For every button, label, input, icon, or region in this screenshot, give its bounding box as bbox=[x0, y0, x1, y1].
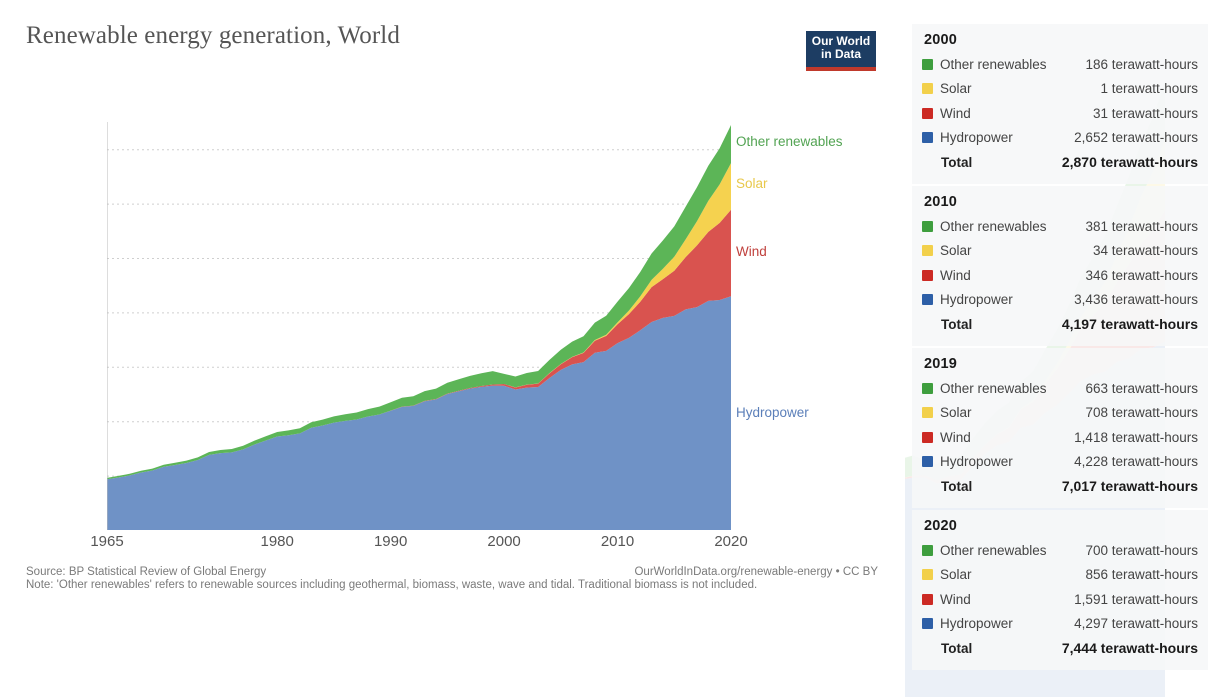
tooltip-row: Wind31 terawatt-hours bbox=[922, 101, 1198, 126]
tooltip-row: Other renewables186 terawatt-hours bbox=[922, 52, 1198, 77]
tooltip-series-name: Solar bbox=[940, 567, 972, 582]
tooltip-series-value: 1 terawatt-hours bbox=[1100, 81, 1198, 96]
tooltip-series-name: Wind bbox=[940, 106, 971, 121]
tooltip-row: Hydropower3,436 terawatt-hours bbox=[922, 288, 1198, 313]
tooltip-row: Other renewables381 terawatt-hours bbox=[922, 214, 1198, 239]
tooltip-total-label: Total bbox=[922, 641, 972, 656]
tooltip-total-row: Total7,017 terawatt-hours bbox=[922, 474, 1198, 499]
tooltip-row: Other renewables663 terawatt-hours bbox=[922, 376, 1198, 401]
owid-chart-page: Renewable energy generation, World Our W… bbox=[0, 0, 1224, 697]
tooltip-total-label: Total bbox=[922, 479, 972, 494]
tooltip-total-row: Total2,870 terawatt-hours bbox=[922, 150, 1198, 175]
tooltip-year: 2010 bbox=[924, 194, 1198, 210]
tooltip-row: Other renewables700 terawatt-hours bbox=[922, 538, 1198, 563]
x-axis-tick: 1965 bbox=[90, 533, 123, 550]
tooltip-series-value: 1,591 terawatt-hours bbox=[1074, 592, 1198, 607]
tooltip-series-name: Other renewables bbox=[940, 219, 1047, 234]
tooltip-series-value: 346 terawatt-hours bbox=[1085, 268, 1198, 283]
tooltip-series-name: Other renewables bbox=[940, 381, 1047, 396]
tooltip-series-name: Wind bbox=[940, 268, 971, 283]
tooltip-series-value: 708 terawatt-hours bbox=[1085, 405, 1198, 420]
legend-swatch-icon bbox=[922, 456, 933, 467]
tooltip-total-row: Total7,444 terawatt-hours bbox=[922, 636, 1198, 661]
legend-swatch-icon bbox=[922, 294, 933, 305]
tooltip-row: Solar1 terawatt-hours bbox=[922, 77, 1198, 102]
tooltip-row: Hydropower4,297 terawatt-hours bbox=[922, 612, 1198, 637]
tooltip-panels: 2000Other renewables186 terawatt-hoursSo… bbox=[905, 0, 1224, 697]
tooltip-total-label: Total bbox=[922, 317, 972, 332]
legend-swatch-icon bbox=[922, 83, 933, 94]
tooltip-series-value: 381 terawatt-hours bbox=[1085, 219, 1198, 234]
legend-swatch-icon bbox=[922, 569, 933, 580]
series-label-hydropower: Hydropower bbox=[736, 405, 809, 420]
legend-swatch-icon bbox=[922, 407, 933, 418]
tooltip-series-name: Hydropower bbox=[940, 616, 1013, 631]
tooltip-row: Solar34 terawatt-hours bbox=[922, 239, 1198, 264]
legend-swatch-icon bbox=[922, 432, 933, 443]
tooltip-series-name: Solar bbox=[940, 243, 972, 258]
series-label-other-renewables: Other renewables bbox=[736, 134, 843, 149]
tooltip-series-name: Solar bbox=[940, 81, 972, 96]
tooltip-year: 2020 bbox=[924, 518, 1198, 534]
tooltip-year: 2000 bbox=[924, 32, 1198, 48]
tooltip-series-value: 663 terawatt-hours bbox=[1085, 381, 1198, 396]
tooltip-series-name: Other renewables bbox=[940, 57, 1047, 72]
chart-panel: Renewable energy generation, World Our W… bbox=[0, 0, 900, 697]
tooltip-series-value: 4,228 terawatt-hours bbox=[1074, 454, 1198, 469]
tooltip-series-name: Hydropower bbox=[940, 454, 1013, 469]
tooltip-series-value: 2,652 terawatt-hours bbox=[1074, 130, 1198, 145]
legend-swatch-icon bbox=[922, 594, 933, 605]
tooltip-panel[interactable]: 2020Other renewables700 terawatt-hoursSo… bbox=[912, 510, 1208, 670]
legend-swatch-icon bbox=[922, 618, 933, 629]
tooltip-total-value: 7,017 terawatt-hours bbox=[1062, 478, 1198, 494]
tooltip-total-value: 7,444 terawatt-hours bbox=[1062, 640, 1198, 656]
tooltip-series-value: 1,418 terawatt-hours bbox=[1074, 430, 1198, 445]
tooltip-series-name: Wind bbox=[940, 430, 971, 445]
x-axis-tick: 2010 bbox=[601, 533, 634, 550]
tooltip-series-value: 856 terawatt-hours bbox=[1085, 567, 1198, 582]
tooltip-panel[interactable]: 2000Other renewables186 terawatt-hoursSo… bbox=[912, 24, 1208, 184]
tooltip-total-row: Total4,197 terawatt-hours bbox=[922, 312, 1198, 337]
tooltip-year: 2019 bbox=[924, 356, 1198, 372]
chart-footer: Source: BP Statistical Review of Global … bbox=[26, 566, 878, 591]
tooltip-series-name: Solar bbox=[940, 405, 972, 420]
tooltip-series-value: 34 terawatt-hours bbox=[1093, 243, 1198, 258]
tooltip-series-name: Wind bbox=[940, 592, 971, 607]
legend-swatch-icon bbox=[922, 108, 933, 119]
x-axis-tick: 1990 bbox=[374, 533, 407, 550]
tooltip-row: Wind346 terawatt-hours bbox=[922, 263, 1198, 288]
tooltip-panel[interactable]: 2019Other renewables663 terawatt-hoursSo… bbox=[912, 348, 1208, 508]
x-axis-tick: 2000 bbox=[487, 533, 520, 550]
legend-swatch-icon bbox=[922, 270, 933, 281]
footer-note: Note: 'Other renewables' refers to renew… bbox=[26, 579, 878, 591]
footer-link[interactable]: OurWorldInData.org/renewable-energy • CC… bbox=[634, 566, 878, 578]
tooltip-row: Hydropower4,228 terawatt-hours bbox=[922, 450, 1198, 475]
series-label-wind: Wind bbox=[736, 244, 767, 259]
legend-swatch-icon bbox=[922, 545, 933, 556]
tooltip-total-value: 2,870 terawatt-hours bbox=[1062, 154, 1198, 170]
x-axis-tick: 2020 bbox=[714, 533, 747, 550]
x-axis-tick: 1980 bbox=[260, 533, 293, 550]
tooltip-series-name: Hydropower bbox=[940, 130, 1013, 145]
tooltip-row: Solar856 terawatt-hours bbox=[922, 563, 1198, 588]
legend-swatch-icon bbox=[922, 59, 933, 70]
footer-source: Source: BP Statistical Review of Global … bbox=[26, 566, 266, 578]
tooltip-series-value: 186 terawatt-hours bbox=[1085, 57, 1198, 72]
series-label-solar: Solar bbox=[736, 176, 768, 191]
tooltip-row: Wind1,418 terawatt-hours bbox=[922, 425, 1198, 450]
legend-swatch-icon bbox=[922, 132, 933, 143]
tooltip-total-label: Total bbox=[922, 155, 972, 170]
tooltip-series-value: 31 terawatt-hours bbox=[1093, 106, 1198, 121]
tooltip-series-value: 700 terawatt-hours bbox=[1085, 543, 1198, 558]
tooltip-series-value: 3,436 terawatt-hours bbox=[1074, 292, 1198, 307]
legend-swatch-icon bbox=[922, 383, 933, 394]
tooltip-series-value: 4,297 terawatt-hours bbox=[1074, 616, 1198, 631]
legend-swatch-icon bbox=[922, 221, 933, 232]
tooltip-row: Wind1,591 terawatt-hours bbox=[922, 587, 1198, 612]
tooltip-row: Solar708 terawatt-hours bbox=[922, 401, 1198, 426]
tooltip-row: Hydropower2,652 terawatt-hours bbox=[922, 126, 1198, 151]
tooltip-panel[interactable]: 2010Other renewables381 terawatt-hoursSo… bbox=[912, 186, 1208, 346]
tooltip-total-value: 4,197 terawatt-hours bbox=[1062, 316, 1198, 332]
legend-swatch-icon bbox=[922, 245, 933, 256]
x-axis-labels: 196519801990200020102020 bbox=[0, 0, 900, 697]
tooltip-series-name: Other renewables bbox=[940, 543, 1047, 558]
tooltip-series-name: Hydropower bbox=[940, 292, 1013, 307]
